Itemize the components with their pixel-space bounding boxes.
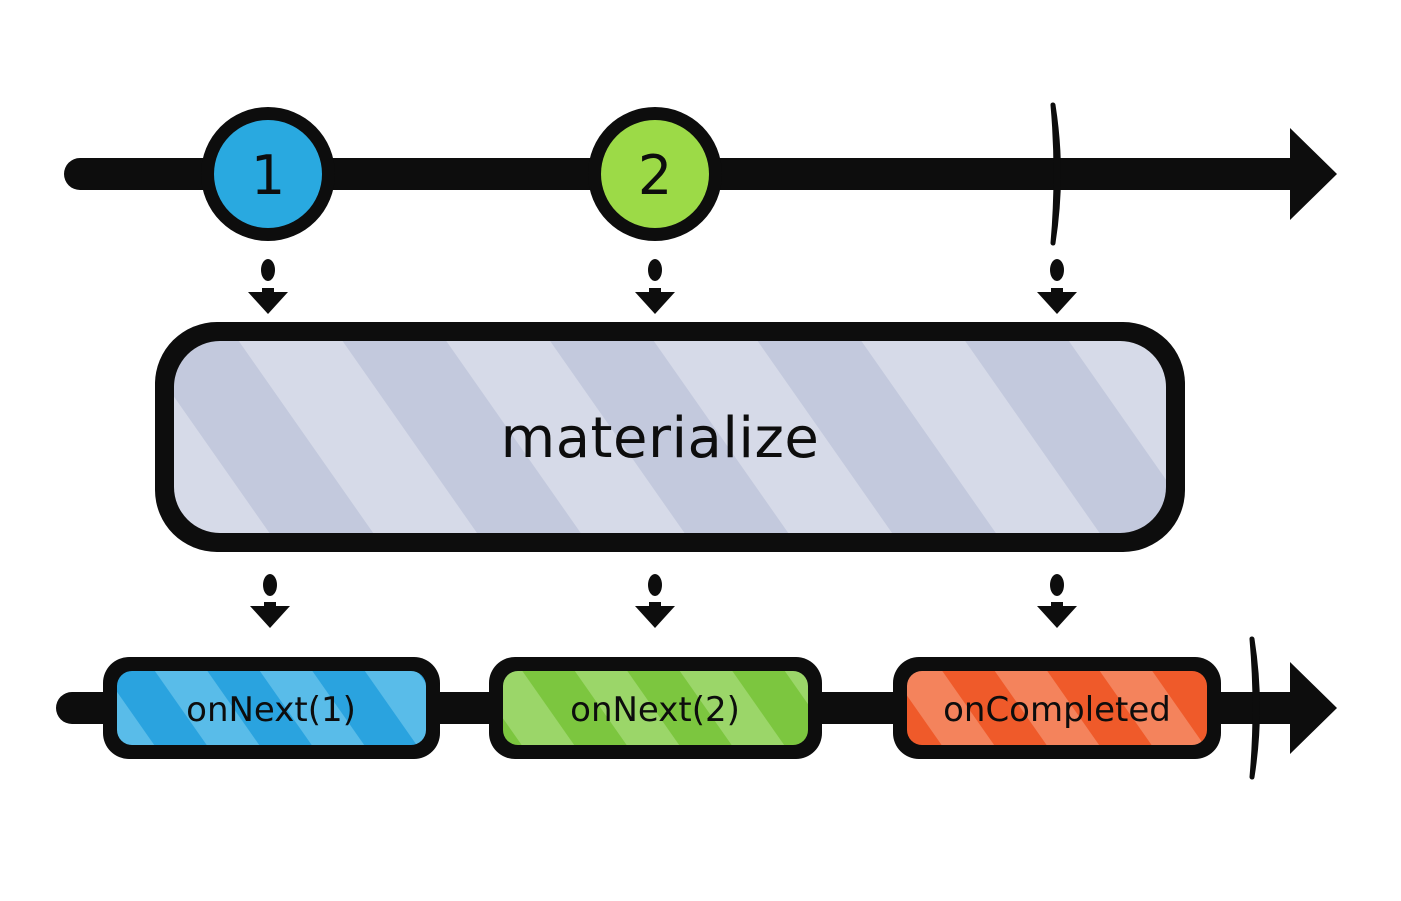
marble-2[interactable]: 2 [588, 107, 722, 241]
diagram-svg: 1 2 materialize [0, 0, 1401, 901]
notification-onnext-2-label: onNext(2) [570, 690, 740, 730]
marble-diagram-canvas: 1 2 materialize [0, 0, 1401, 901]
arrow-operator-to-onnext-1 [250, 574, 290, 628]
operator-label: materialize [501, 406, 820, 471]
marble-1-label: 1 [251, 144, 285, 207]
arrow-source-1-to-operator [248, 259, 288, 314]
notification-oncompleted-label: onCompleted [943, 690, 1171, 730]
arrow-operator-to-onnext-2 [635, 574, 675, 628]
operator-box[interactable]: materialize [155, 322, 1185, 552]
source-completion-tick [1053, 105, 1059, 243]
marble-1[interactable]: 1 [201, 107, 335, 241]
notification-onnext-1[interactable]: onNext(1) [103, 657, 440, 759]
notification-onnext-1-label: onNext(1) [186, 690, 356, 730]
result-completion-tick [1252, 639, 1258, 777]
arrow-operator-to-oncompleted [1037, 574, 1077, 628]
arrow-source-2-to-operator [635, 259, 675, 314]
marble-2-label: 2 [638, 144, 672, 207]
notification-oncompleted[interactable]: onCompleted [893, 657, 1221, 759]
notification-onnext-2[interactable]: onNext(2) [489, 657, 822, 759]
arrow-source-complete-to-operator [1037, 259, 1077, 314]
